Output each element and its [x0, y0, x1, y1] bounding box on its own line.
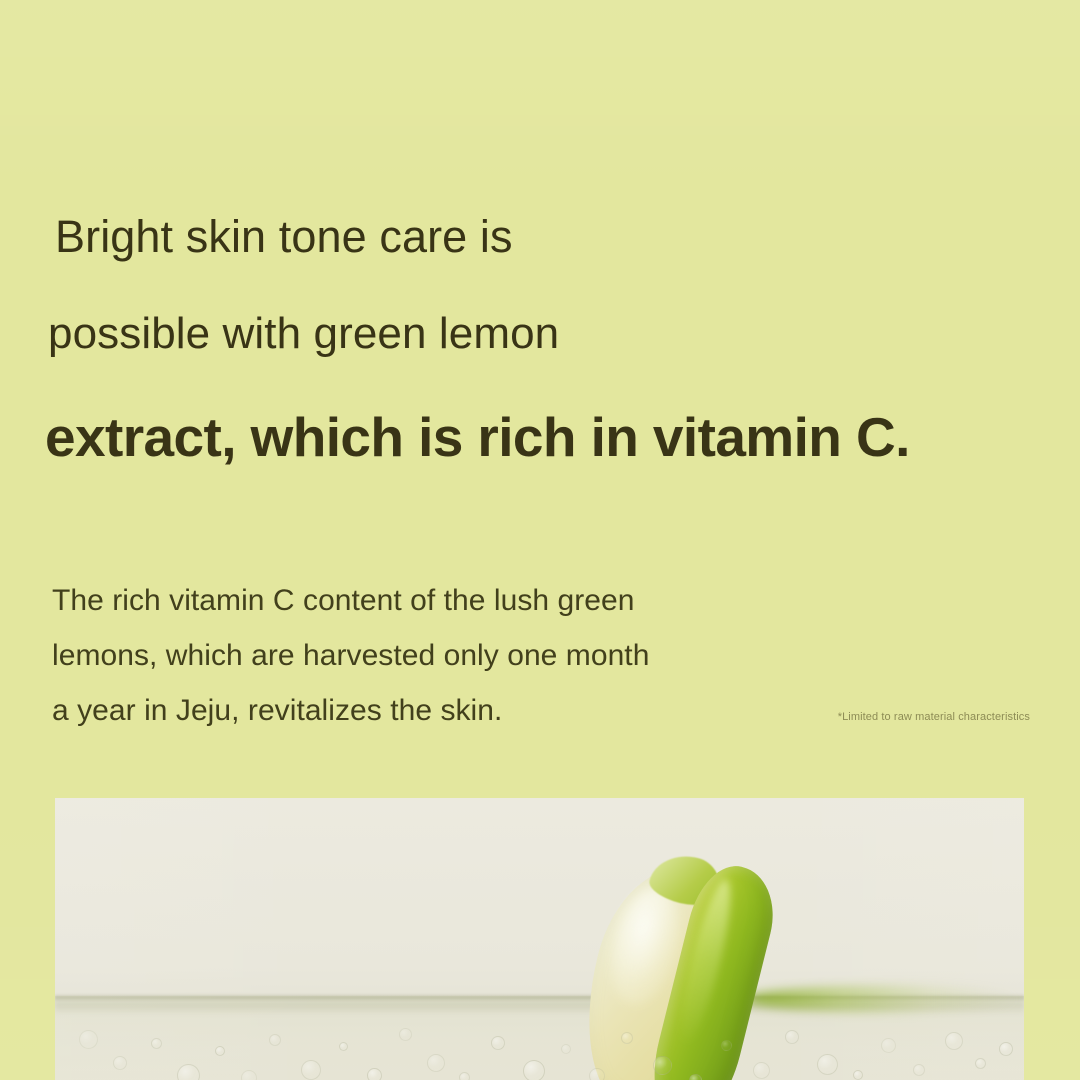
water-bubble — [459, 1072, 470, 1080]
water-bubble — [561, 1044, 571, 1054]
water-bubble — [689, 1074, 702, 1080]
water-bubble — [491, 1036, 505, 1050]
water-bubble — [853, 1070, 863, 1080]
water-bubble — [653, 1056, 672, 1075]
water-bubble — [301, 1060, 321, 1080]
water-bubble — [753, 1062, 770, 1079]
water-bubble — [241, 1070, 257, 1080]
water-bubble — [269, 1034, 281, 1046]
water-bubble — [523, 1060, 545, 1080]
body-line-2: lemons, which are harvested only one mon… — [52, 628, 812, 683]
water-bubble — [785, 1030, 799, 1044]
product-photo-panel — [55, 798, 1024, 1080]
disclaimer-note: *Limited to raw material characteristics — [838, 710, 1030, 724]
water-bubble — [215, 1046, 225, 1056]
water-bubble — [427, 1054, 445, 1072]
water-bubble — [177, 1064, 200, 1080]
headline-line-1: Bright skin tone care is — [55, 206, 1080, 268]
body-line-3: a year in Jeju, revitalizes the skin. — [52, 683, 812, 738]
water-bubble — [999, 1042, 1013, 1056]
water-bubble — [399, 1028, 412, 1041]
water-bubble — [113, 1056, 127, 1070]
body-line-1: The rich vitamin C content of the lush g… — [52, 573, 812, 628]
water-bubble — [151, 1038, 162, 1049]
water-bubble — [913, 1064, 925, 1076]
promo-canvas: Bright skin tone care is possible with g… — [0, 0, 1080, 1080]
headline-block: Bright skin tone care is possible with g… — [0, 206, 1080, 472]
water-bubble — [721, 1040, 732, 1051]
body-copy-block: The rich vitamin C content of the lush g… — [52, 573, 812, 738]
water-bubble — [817, 1054, 838, 1075]
water-bubble — [589, 1068, 605, 1080]
water-bubble — [79, 1030, 98, 1049]
water-bubble — [339, 1042, 348, 1051]
water-bubble — [881, 1038, 896, 1053]
water-bubble — [367, 1068, 382, 1080]
water-bubble — [945, 1032, 963, 1050]
water-bubble — [975, 1058, 986, 1069]
headline-line-3: extract, which is rich in vitamin C. — [45, 402, 1080, 472]
water-bubble — [621, 1032, 633, 1044]
green-peel-trail — [745, 986, 1013, 1012]
headline-line-2: possible with green lemon — [48, 304, 1080, 364]
